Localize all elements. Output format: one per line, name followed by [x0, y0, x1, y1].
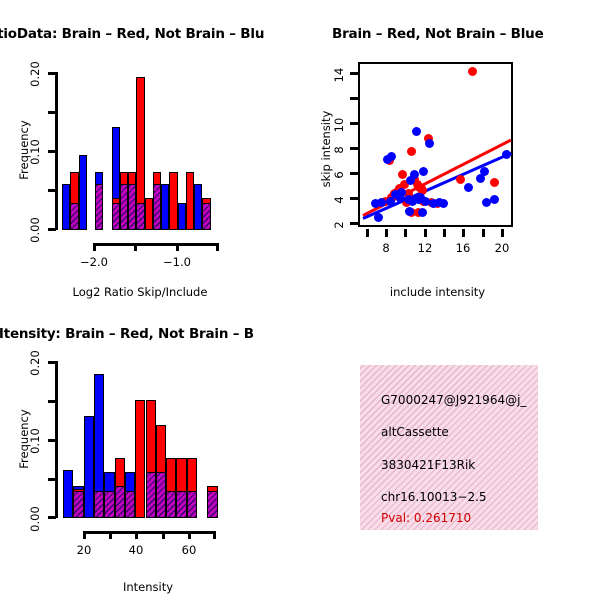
scatter-y-ticklabel-6: 6 [332, 162, 346, 188]
histogram-bar [79, 155, 87, 230]
intensity-x-tick-70 [213, 531, 216, 539]
scatter-point [480, 167, 489, 176]
ratio-x-ticklabel-m10: −1.0 [155, 255, 199, 269]
ratio-y-tick-000 [48, 228, 56, 231]
scatter-x-tick-8 [385, 229, 388, 237]
scatter-y-ticklabel-14: 14 [332, 62, 346, 88]
scatter-point [386, 197, 395, 206]
ratio-x-tick-m20 [93, 243, 96, 251]
ratio-x-tick-m10 [176, 243, 179, 251]
annotation-box [360, 365, 538, 530]
panel-intensity-scatter: Brain – Red, Not Brain – Blue 14 10 8 6 … [300, 0, 600, 300]
annotation-line-id: G7000247@J921964@j_ [381, 393, 526, 407]
scatter-y-tick-4 [350, 197, 358, 200]
ratio-histogram-plot-area [58, 70, 223, 230]
histogram-bar [176, 491, 186, 518]
ratio-x-tick-m15 [134, 243, 137, 251]
scatter-point [456, 175, 465, 184]
intensity-histogram-plot-area [58, 360, 233, 518]
scatter-x-label: include intensity [365, 285, 510, 299]
ratio-y-tick-020 [48, 72, 56, 75]
intensity-histogram-y-label: Frequency [17, 399, 31, 479]
scatter-point [419, 167, 428, 176]
scatter-point [418, 208, 427, 217]
ratio-histogram-x-label: Log2 Ratio Skip/Include [60, 285, 220, 299]
scatter-y-ticklabel-10: 10 [332, 112, 346, 138]
histogram-bar [95, 184, 103, 230]
scatter-point [412, 127, 421, 136]
annotation-line-pvalue: Pval: 0.261710 [381, 511, 471, 525]
histogram-bar [194, 184, 202, 230]
scatter-point [374, 213, 383, 222]
scatter-point [383, 155, 392, 164]
scatter-y-tick-2 [350, 222, 358, 225]
ratio-y-ticklabel-000: 0.00 [28, 213, 42, 247]
intensity-y-tick-015 [48, 400, 56, 403]
intensity-histogram-x-label: Intensity [88, 580, 208, 594]
intensity-x-tick-30 [109, 531, 112, 539]
scatter-y-tick-8 [350, 147, 358, 150]
ratio-y-tick-010 [48, 150, 56, 153]
scatter-x-ticklabel-20: 20 [482, 241, 522, 255]
histogram-bar [135, 400, 145, 518]
histogram-bar [153, 184, 161, 230]
intensity-x-ticklabel-20: 20 [64, 543, 104, 557]
intensity-histogram-title: ne Itensity: Brain – Red, Not Brain – B [0, 326, 254, 342]
scatter-x-ticklabel-12: 12 [405, 241, 445, 255]
scatter-x-tick-18 [482, 229, 485, 237]
scatter-point [502, 150, 511, 159]
histogram-bar [207, 491, 217, 518]
intensity-x-ticklabel-40: 40 [116, 543, 156, 557]
histogram-bar [104, 491, 114, 518]
scatter-x-ticklabel-8: 8 [366, 241, 406, 255]
panel-annotation: G7000247@J921964@j_ altCassette 3830421F… [300, 300, 600, 600]
scatter-title: Brain – Red, Not Brain – Blue [332, 26, 544, 42]
scatter-point [407, 147, 416, 156]
histogram-bar [128, 184, 136, 230]
intensity-x-tick-40 [135, 531, 138, 539]
scatter-point [439, 199, 448, 208]
ratio-y-tick-015 [48, 111, 56, 114]
histogram-bar [112, 203, 120, 230]
scatter-y-tick-12 [350, 97, 358, 100]
scatter-point [464, 183, 473, 192]
scatter-y-tick-14 [350, 72, 358, 75]
ratio-x-tick-m05 [216, 243, 219, 251]
scatter-x-tick-20 [501, 229, 504, 237]
intensity-y-tick-005 [48, 478, 56, 481]
ratio-histogram-title: RatioData: Brain – Red, Not Brain – Blu [0, 26, 264, 42]
scatter-x-ticklabel-16: 16 [443, 241, 483, 255]
ratio-x-ticklabel-m20: −2.0 [72, 255, 116, 269]
scatter-point [405, 207, 414, 216]
histogram-bar [169, 172, 177, 230]
histogram-bar [146, 472, 156, 518]
ratio-y-ticklabel-020: 0.20 [28, 57, 42, 91]
intensity-y-tick-000 [48, 516, 56, 519]
scatter-y-label: skip intensity [319, 104, 333, 194]
annotation-line-event-type: altCassette [381, 425, 449, 439]
histogram-bar [125, 491, 135, 518]
scatter-x-tick-12 [424, 229, 427, 237]
panel-intensity-histogram: ne Itensity: Brain – Red, Not Brain – B … [0, 300, 300, 600]
annotation-line-gene-symbol: 3830421F13Rik [381, 458, 475, 472]
intensity-x-ticklabel-60: 60 [169, 543, 209, 557]
scatter-y-ticklabel-4: 4 [332, 187, 346, 213]
ratio-y-tick-005 [48, 189, 56, 192]
histogram-bar [186, 172, 194, 230]
intensity-y-ticklabel-000: 0.00 [28, 502, 42, 536]
histogram-bar [73, 491, 83, 518]
histogram-bar [84, 416, 94, 518]
histogram-bar [166, 491, 176, 518]
scatter-point [468, 67, 477, 76]
scatter-x-tick-16 [462, 229, 465, 237]
intensity-y-ticklabel-020: 0.20 [28, 346, 42, 380]
scatter-point [425, 139, 434, 148]
scatter-y-tick-10 [350, 122, 358, 125]
histogram-bar [187, 491, 197, 518]
histogram-bar [70, 203, 78, 230]
histogram-bar [156, 472, 166, 518]
annotation-line-locus: chr16.10013−2.5 [381, 490, 487, 504]
panel-ratio-histogram: RatioData: Brain – Red, Not Brain – Blu … [0, 0, 300, 300]
scatter-y-ticklabel-8: 8 [332, 137, 346, 163]
ratio-histogram-y-label: Frequency [17, 110, 31, 190]
scatter-y-tick-6 [350, 172, 358, 175]
scatter-point [490, 178, 499, 187]
intensity-y-tick-020 [48, 361, 56, 364]
scatter-y-ticklabel-2: 2 [332, 212, 346, 238]
histogram-bar [178, 203, 186, 230]
intensity-x-tick-20 [83, 531, 86, 539]
histogram-bar [62, 184, 70, 230]
histogram-bar [136, 203, 144, 230]
ratio-histogram-x-axis [93, 243, 218, 246]
histogram-bar [120, 184, 128, 230]
histogram-bar [161, 184, 169, 230]
scatter-x-tick-7 [366, 229, 369, 237]
histogram-bar [202, 203, 210, 230]
intensity-histogram-x-axis [83, 531, 215, 534]
histogram-bar [94, 491, 104, 518]
intensity-x-tick-50 [162, 531, 165, 539]
scatter-point [490, 195, 499, 204]
intensity-y-tick-010 [48, 439, 56, 442]
intensity-x-tick-60 [188, 531, 191, 539]
scatter-plot-area [358, 62, 513, 227]
histogram-bar [115, 486, 125, 518]
scatter-x-tick-10 [404, 229, 407, 237]
histogram-bar [145, 198, 153, 230]
histogram-bar [63, 470, 73, 518]
scatter-x-tick-14 [443, 229, 446, 237]
